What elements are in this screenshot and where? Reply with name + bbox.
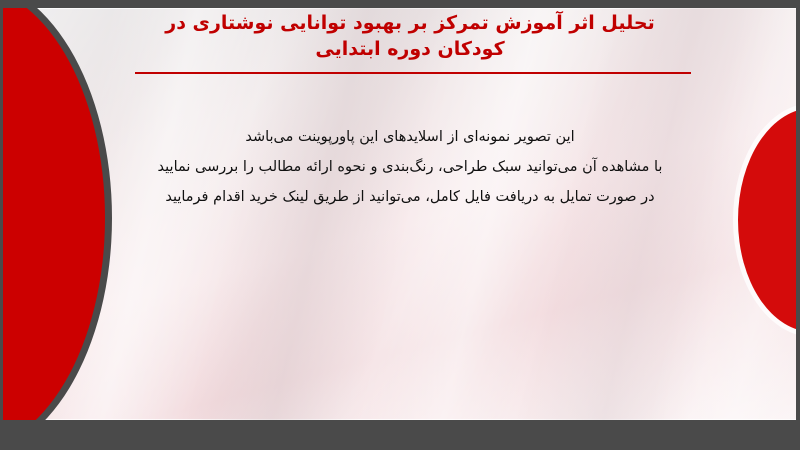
slide-title-line-1: تحلیل اثر آموزش تمرکز بر بهبود توانایی ن… xyxy=(120,10,700,36)
slide-content-panel xyxy=(0,8,800,420)
slide-right-border xyxy=(796,0,800,450)
slide-bottom-border xyxy=(0,420,800,450)
slide-top-border xyxy=(0,0,800,8)
slide-body: این تصویر نمونه‌ای از اسلایدهای این پاور… xyxy=(60,122,760,212)
slide-body-line-1: این تصویر نمونه‌ای از اسلایدهای این پاور… xyxy=(60,122,760,152)
title-divider-rule xyxy=(135,72,691,74)
slide-left-border xyxy=(0,0,3,450)
slide-body-line-2: با مشاهده آن می‌توانید سبک طراحی، رنگ‌بن… xyxy=(60,152,760,182)
slide-body-line-3: در صورت تمایل به دریافت فایل کامل، می‌تو… xyxy=(60,182,760,212)
background-sweep-3 xyxy=(323,8,646,420)
background-sweep-2 xyxy=(153,8,476,420)
slide-title-line-2: کودکان دوره ابتدایی xyxy=(120,36,700,62)
slide-title: تحلیل اثر آموزش تمرکز بر بهبود توانایی ن… xyxy=(120,10,700,62)
presentation-slide: تحلیل اثر آموزش تمرکز بر بهبود توانایی ن… xyxy=(0,0,800,450)
